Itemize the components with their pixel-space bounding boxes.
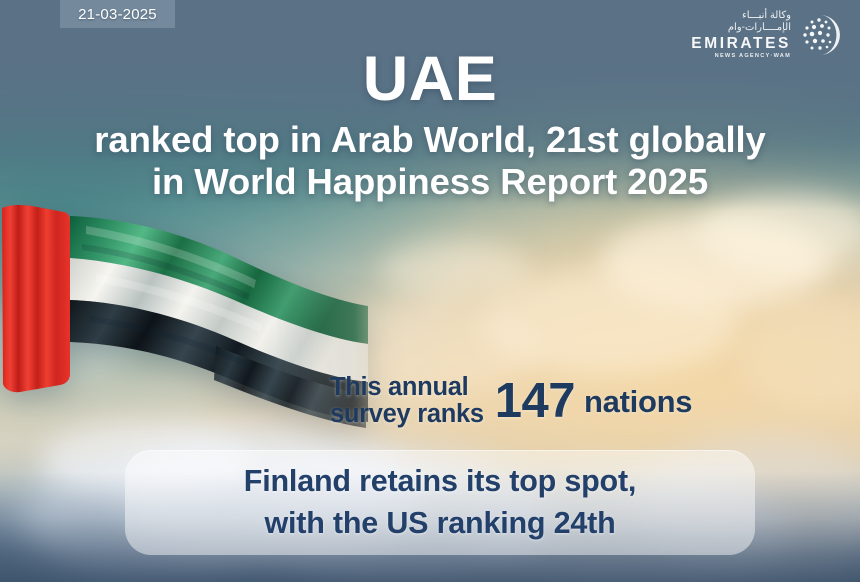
infographic-canvas: 21-03-2025 وكالة أنبـــاء الإمــــارات-و… — [0, 0, 860, 582]
panel-line-1: Finland retains its top spot, — [244, 461, 636, 502]
headline-line-3: in World Happiness Report 2025 — [0, 161, 860, 203]
headline-line-2: ranked top in Arab World, 21st globally — [0, 119, 860, 161]
wam-logo-arabic-line2: الإمــــارات-وام — [728, 23, 791, 33]
wam-logo-arabic-line1: وكالة أنبـــاء — [742, 11, 791, 21]
headline-block: UAE ranked top in Arab World, 21st globa… — [0, 48, 860, 204]
stat-number: 147 — [495, 377, 575, 426]
stat-prefix: This annual survey ranks — [330, 374, 484, 428]
stat-prefix-line2: survey ranks — [330, 401, 484, 428]
page-title: UAE — [0, 48, 860, 111]
bottom-info-panel: Finland retains its top spot, with the U… — [125, 450, 755, 555]
stat-prefix-line1: This annual — [330, 374, 484, 401]
stat-unit: nations — [584, 386, 692, 417]
date-badge: 21-03-2025 — [60, 0, 175, 28]
panel-line-2: with the US ranking 24th — [264, 503, 615, 544]
stat-block: This annual survey ranks 147 nations — [330, 374, 692, 428]
